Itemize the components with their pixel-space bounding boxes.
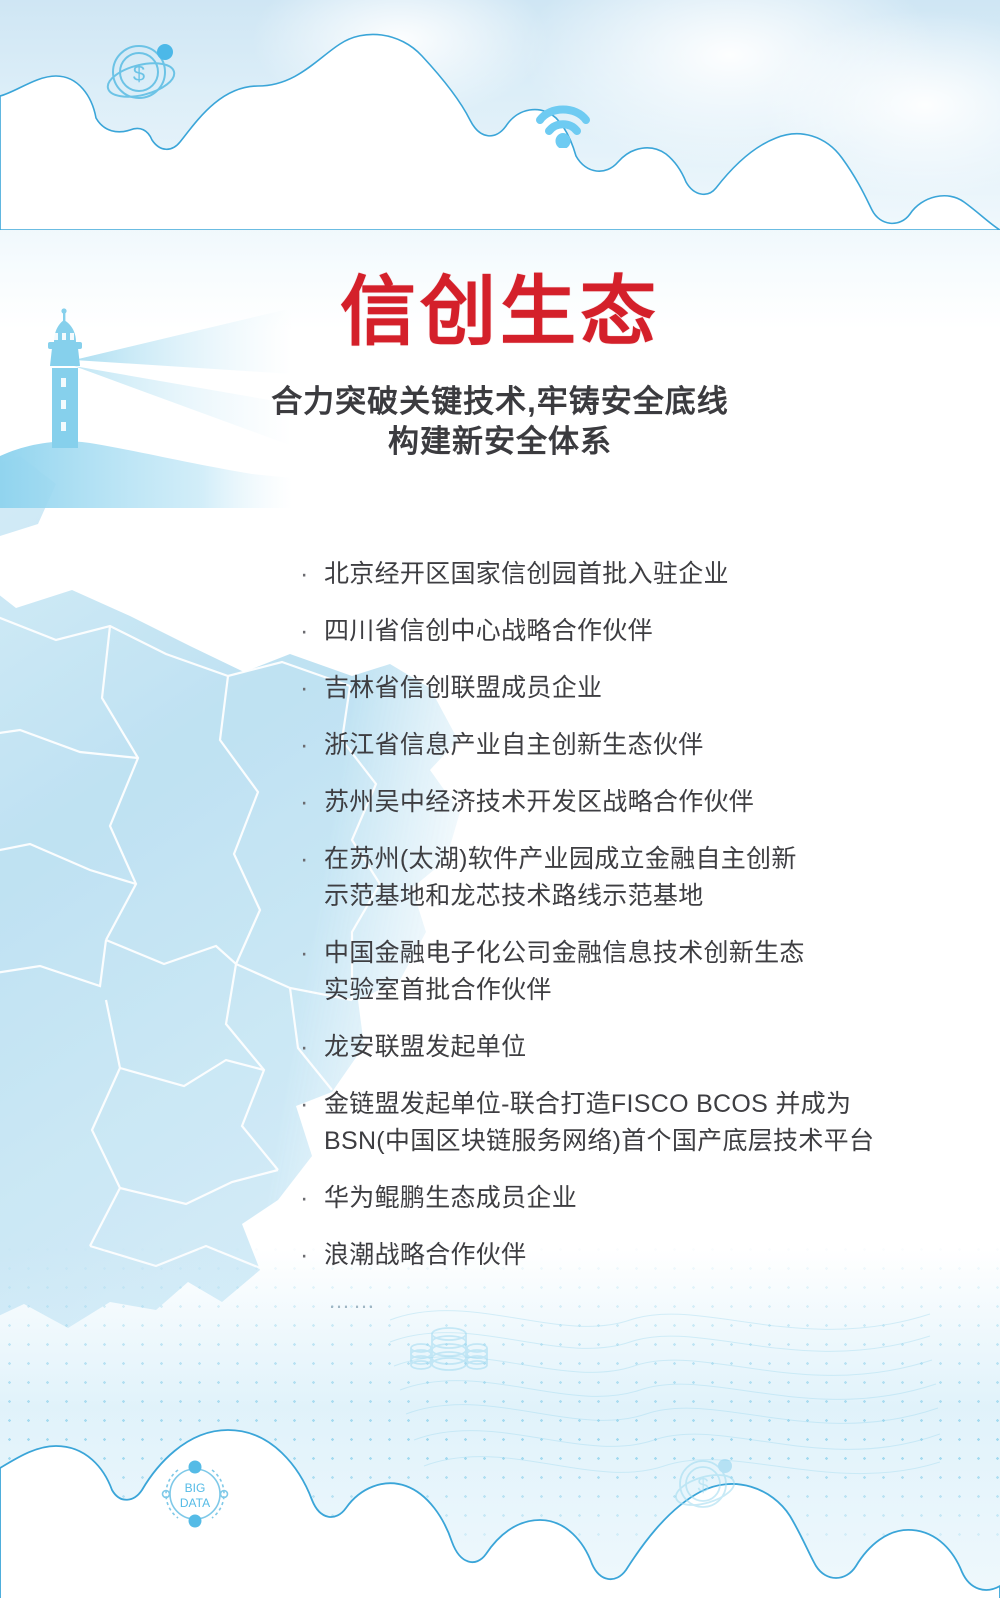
list-item: ·在苏州(太湖)软件产业园成立金融自主创新示范基地和龙芯技术路线示范基地	[298, 841, 938, 915]
bullet-dot-icon: ·	[300, 727, 309, 764]
list-item-line: 金链盟发起单位-联合打造FISCO BCOS 并成为	[324, 1086, 938, 1123]
list-item-line: 龙安联盟发起单位	[324, 1029, 938, 1066]
list-item: ·浪潮战略合作伙伴	[298, 1237, 938, 1274]
bullet-dot-icon: ·	[300, 556, 309, 593]
list-item-line: 苏州吴中经济技术开发区战略合作伙伴	[324, 784, 938, 821]
cloud-scallop-bottom	[0, 1350, 1000, 1598]
list-item-line: 华为鲲鹏生态成员企业	[324, 1180, 938, 1217]
credential-list: ·北京经开区国家信创园首批入驻企业·四川省信创中心战略合作伙伴·吉林省信创联盟成…	[298, 556, 938, 1314]
bullet-dot-icon: ·	[300, 841, 309, 878]
bullet-dot-icon: ·	[300, 1029, 309, 1066]
list-item: ·四川省信创中心战略合作伙伴	[298, 613, 938, 650]
page-title: 信创生态	[0, 272, 1000, 354]
list-item-line: 浙江省信息产业自主创新生态伙伴	[324, 727, 938, 764]
list-item-line: 中国金融电子化公司金融信息技术创新生态	[324, 935, 938, 972]
list-item-line: 吉林省信创联盟成员企业	[324, 670, 938, 707]
page-subtitle: 合力突破关键技术,牢铸安全底线 构建新安全体系	[0, 382, 1000, 462]
list-item: ·龙安联盟发起单位	[298, 1029, 938, 1066]
list-item: ·金链盟发起单位-联合打造FISCO BCOS 并成为BSN(中国区块链服务网络…	[298, 1086, 938, 1160]
list-item: ·浙江省信息产业自主创新生态伙伴	[298, 727, 938, 764]
list-item-line: 四川省信创中心战略合作伙伴	[324, 613, 938, 650]
bullet-dot-icon: ·	[300, 613, 309, 650]
list-item: ·吉林省信创联盟成员企业	[298, 670, 938, 707]
bullet-dot-icon: ·	[300, 1180, 309, 1217]
subtitle-line-2: 构建新安全体系	[0, 422, 1000, 462]
list-item: ·苏州吴中经济技术开发区战略合作伙伴	[298, 784, 938, 821]
list-item-line: BSN(中国区块链服务网络)首个国产底层技术平台	[324, 1123, 938, 1160]
list-item: ·华为鲲鹏生态成员企业	[298, 1180, 938, 1217]
list-item: ·中国金融电子化公司金融信息技术创新生态实验室首批合作伙伴	[298, 935, 938, 1009]
subtitle-line-1: 合力突破关键技术,牢铸安全底线	[0, 382, 1000, 422]
list-ellipsis: ……	[298, 1288, 938, 1314]
bullet-dot-icon: ·	[300, 670, 309, 707]
list-item-line: 浪潮战略合作伙伴	[324, 1237, 938, 1274]
list-item-line: 示范基地和龙芯技术路线示范基地	[324, 878, 938, 915]
list-item-line: 实验室首批合作伙伴	[324, 972, 938, 1009]
poster-canvas: 信创生态 合力突破关键技术,牢铸安全底线 构建新安全体系 ·北京经开区国家信创园…	[0, 0, 1000, 1598]
bullet-dot-icon: ·	[300, 1086, 309, 1123]
bullet-dot-icon: ·	[300, 935, 309, 972]
cloud-scallop-top	[0, 0, 1000, 230]
list-item-line: 在苏州(太湖)软件产业园成立金融自主创新	[324, 841, 938, 878]
list-item-line: 北京经开区国家信创园首批入驻企业	[324, 556, 938, 593]
list-item: ·北京经开区国家信创园首批入驻企业	[298, 556, 938, 593]
bullet-dot-icon: ·	[300, 784, 309, 821]
bullet-dot-icon: ·	[300, 1237, 309, 1274]
